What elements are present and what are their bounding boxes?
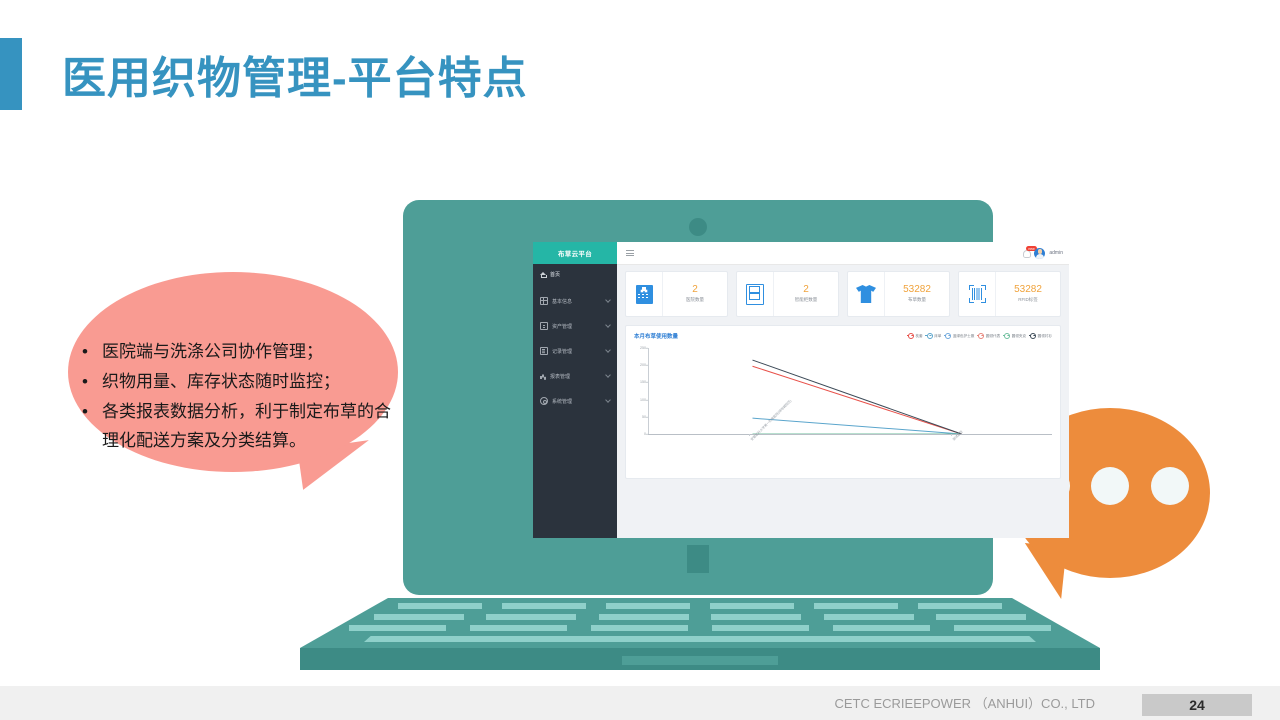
keyboard-key	[599, 614, 689, 620]
title-accent-bar	[0, 38, 22, 110]
chart-series-line	[753, 418, 962, 434]
stat-card-smart-cabinets[interactable]: 2 智能柜数量	[736, 271, 839, 317]
legend-item[interactable]: 床单	[927, 333, 942, 339]
stat-label: 智能柜数量	[795, 297, 818, 303]
keyboard-key	[918, 603, 1001, 609]
keyboard-key	[824, 614, 914, 620]
stat-card-hospitals[interactable]: 2 医院数量	[625, 271, 728, 317]
sidebar-item-report-management[interactable]: 报表管理	[533, 371, 617, 381]
stat-value: 2	[803, 285, 809, 295]
laptop-keyboard	[300, 598, 1100, 648]
stat-label: 医院数量	[686, 297, 704, 303]
card-body: 2 医院数量	[663, 272, 727, 316]
avatar[interactable]	[1034, 248, 1045, 259]
sidebar-item-label: 基本信息	[552, 298, 572, 305]
legend-marker-icon	[1004, 333, 1010, 339]
sidebar-item-label: 报表管理	[550, 373, 570, 380]
laptop-base	[300, 598, 1100, 670]
sidebar-item-label: 资产管理	[552, 323, 572, 330]
keyboard-key	[486, 614, 576, 620]
keyboard-key	[398, 603, 481, 609]
sidebar-item-label: 首页	[550, 271, 560, 278]
chart-icon	[540, 373, 546, 379]
chart-plot-area: 050100150200250 安徽医科大学第一附属医院(绿地城院区)测试医院	[634, 348, 1052, 474]
keyboard-spacebar	[364, 636, 1036, 642]
webcam-icon	[689, 218, 707, 236]
legend-marker-icon	[908, 333, 914, 339]
app-topbar: 布草云平台 new admin	[533, 242, 1069, 265]
legend-item[interactable]: 圆领衬衫	[1030, 333, 1052, 339]
legend-label: 枕套	[915, 334, 922, 339]
card-icon-slot	[626, 272, 663, 316]
keyboard-key	[470, 625, 567, 631]
bullet-marker: •	[82, 337, 102, 367]
keyboard-key	[711, 614, 801, 620]
keyboard-key	[606, 603, 689, 609]
stat-card-linen-count[interactable]: 53282 布草数量	[847, 271, 950, 317]
app-sidebar: 首页 基本信息 资产管理 记录管理	[533, 264, 617, 538]
keyboard-key	[374, 614, 464, 620]
grid-icon	[540, 297, 548, 305]
legend-marker-icon	[1030, 333, 1036, 339]
chevron-down-icon	[605, 397, 611, 403]
keyboard-key	[710, 603, 793, 609]
stat-card-rfid-tags[interactable]: 53282 RFID标签	[958, 271, 1061, 317]
cabinet-icon	[746, 284, 764, 305]
box-icon	[540, 322, 548, 330]
keyboard-key	[591, 625, 688, 631]
card-body: 53282 布草数量	[885, 272, 949, 316]
ellipsis-dot-icon	[1151, 467, 1189, 505]
chevron-down-icon	[605, 297, 611, 303]
web-app: 布草云平台 new admin 首页	[533, 242, 1069, 538]
laptop-illustration: 布草云平台 new admin 首页	[300, 200, 1100, 670]
chart-legend: 枕套床单蓝绿色护士服圆领代表圆领夹克圆领衬衫	[908, 333, 1052, 339]
legend-marker-icon	[927, 333, 933, 339]
app-main-content: 2 医院数量 2 智能柜数量	[617, 264, 1069, 538]
barcode-icon	[969, 285, 986, 303]
keyboard-key	[954, 625, 1051, 631]
card-icon-slot	[848, 272, 885, 316]
hamburger-icon[interactable]	[626, 250, 634, 256]
gear-icon	[540, 397, 548, 405]
legend-label: 圆领代表	[986, 334, 1000, 339]
chevron-down-icon	[605, 347, 611, 353]
app-logo[interactable]: 布草云平台	[533, 242, 617, 264]
legend-marker-icon	[978, 333, 984, 339]
footer-company-text: CETC ECRIEEPOWER （ANHUI）CO., LTD	[834, 693, 1095, 712]
keyboard-key	[712, 625, 809, 631]
sidebar-item-system-management[interactable]: 系统管理	[533, 396, 617, 406]
chart-series-line	[753, 360, 962, 434]
hospital-icon	[636, 285, 653, 304]
sidebar-item-home[interactable]: 首页	[533, 269, 617, 279]
laptop-hinge-notch	[687, 545, 709, 573]
usage-chart-panel: 本月布草使用数量 枕套床单蓝绿色护士服圆领代表圆领夹克圆领衬衫 05010015…	[625, 325, 1061, 479]
stat-label: 布草数量	[908, 297, 926, 303]
y-axis-labels: 050100150200250	[634, 348, 648, 434]
chart-series-svg	[648, 348, 1066, 434]
stat-card-row: 2 医院数量 2 智能柜数量	[625, 271, 1061, 317]
keyboard-key	[814, 603, 897, 609]
card-icon-slot	[959, 272, 996, 316]
laptop-lid: 布草云平台 new admin 首页	[403, 200, 993, 595]
legend-label: 床单	[934, 334, 941, 339]
bullet-marker: •	[82, 397, 102, 427]
doc-icon	[540, 347, 548, 355]
username-label: admin	[1049, 250, 1063, 256]
x-axis-line	[648, 434, 1052, 435]
bullet-marker: •	[82, 367, 102, 397]
legend-label: 圆领衬衫	[1038, 334, 1052, 339]
legend-item[interactable]: 枕套	[908, 333, 923, 339]
stat-value: 53282	[1014, 285, 1042, 295]
legend-item[interactable]: 圆领夹克	[1004, 333, 1026, 339]
sidebar-item-label: 系统管理	[552, 398, 572, 405]
sidebar-item-asset-management[interactable]: 资产管理	[533, 321, 617, 331]
sidebar-item-record-management[interactable]: 记录管理	[533, 346, 617, 356]
legend-marker-icon	[945, 333, 951, 339]
page-title: 医用织物管理-平台特点	[62, 42, 528, 106]
stat-value: 53282	[903, 285, 931, 295]
chart-series-line	[753, 366, 962, 434]
keyboard-key	[936, 614, 1026, 620]
bell-icon[interactable]: new	[1022, 249, 1030, 257]
card-body: 2 智能柜数量	[774, 272, 838, 316]
laptop-screen: 布草云平台 new admin 首页	[533, 242, 1069, 538]
keyboard-key	[349, 625, 446, 631]
legend-label: 蓝绿色护士服	[953, 334, 975, 339]
page-number-badge: 24	[1142, 694, 1252, 716]
legend-item[interactable]: 圆领代表	[978, 333, 1000, 339]
chevron-down-icon	[605, 372, 611, 378]
chart-header: 本月布草使用数量 枕套床单蓝绿色护士服圆领代表圆领夹克圆领衬衫	[634, 332, 1052, 340]
home-icon	[540, 271, 546, 277]
stat-label: RFID标签	[1018, 297, 1038, 303]
sidebar-item-basic-info[interactable]: 基本信息	[533, 296, 617, 306]
sidebar-item-label: 记录管理	[552, 348, 572, 355]
laptop-trackpad	[622, 656, 778, 665]
chart-title: 本月布草使用数量	[634, 332, 678, 340]
chevron-down-icon	[605, 322, 611, 328]
stat-value: 2	[692, 285, 698, 295]
keyboard-key	[833, 625, 930, 631]
card-body: 53282 RFID标签	[996, 272, 1060, 316]
card-icon-slot	[737, 272, 774, 316]
legend-item[interactable]: 蓝绿色护士服	[945, 333, 974, 339]
legend-label: 圆领夹克	[1012, 334, 1026, 339]
keyboard-key	[502, 603, 585, 609]
topbar-right-group: new admin	[1022, 248, 1063, 259]
shirt-icon	[856, 285, 876, 303]
